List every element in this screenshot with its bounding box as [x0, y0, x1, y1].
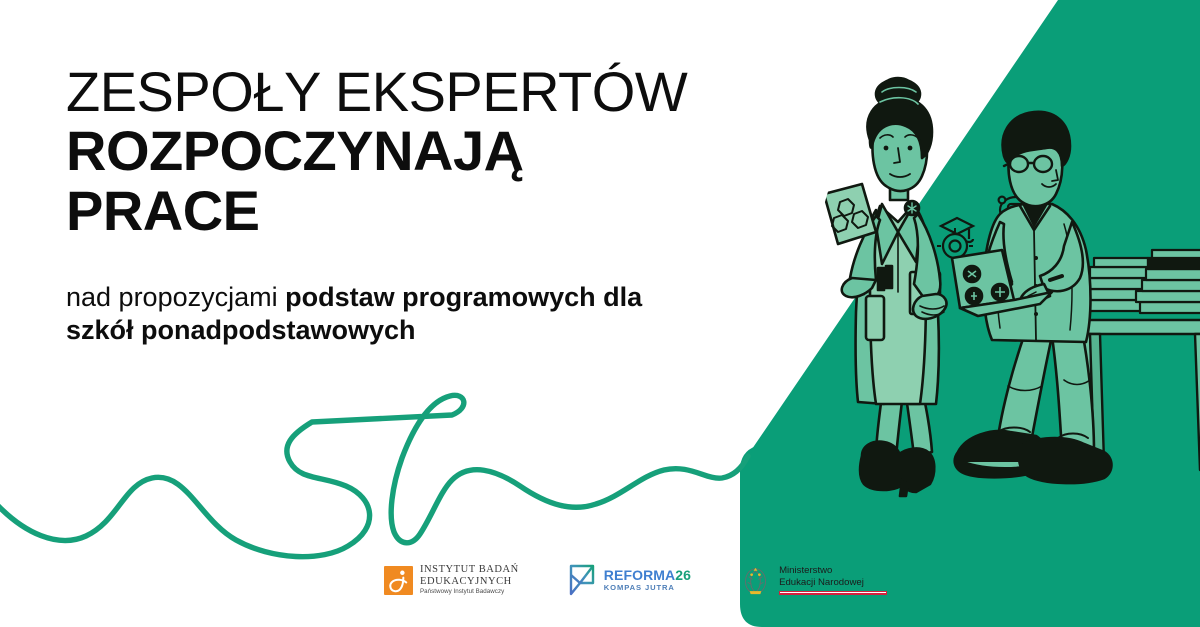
- logo-strip: INSTYTUT BADAŃ EDUKACYJNYCH Państwowy In…: [384, 556, 887, 604]
- reforma-name-suffix: 26: [675, 567, 691, 583]
- polish-eagle-emblem: [739, 564, 772, 597]
- reforma-name-prefix: REFORMA: [604, 567, 675, 583]
- banner-root: AI: [0, 0, 1200, 627]
- laptop-sticker-1: [964, 266, 980, 282]
- men-wordmark: Ministerstwo Edukacji Narodowej: [779, 565, 887, 594]
- laptop-sticker-3: [992, 284, 1008, 300]
- people-illustration: AI: [824, 78, 1200, 496]
- reforma-wordmark: REFORMA26 KOMPAS JUTRA: [604, 568, 691, 593]
- man-with-laptop: [955, 112, 1112, 483]
- logo-ibe: INSTYTUT BADAŃ EDUKACYJNYCH Państwowy In…: [384, 558, 519, 602]
- headline-block: ZESPOŁY EKSPERTÓW ROZPOCZYNAJĄ PRACE: [66, 62, 726, 240]
- logo-reforma26: REFORMA26 KOMPAS JUTRA: [567, 558, 691, 602]
- ibe-line-3: Państwowy Instytut Badawczy: [420, 589, 519, 596]
- small-gear-icon: [911, 247, 931, 267]
- subheading-regular: nad propozycjami: [66, 282, 285, 312]
- woman-scientist: [824, 78, 946, 496]
- ibe-orange-mark: [384, 566, 413, 595]
- ai-label: AI: [1007, 220, 1039, 258]
- laptop: [952, 250, 1052, 316]
- education-gear-icon: [937, 218, 973, 264]
- reforma-name: REFORMA26: [604, 568, 691, 583]
- subheading: nad propozycjami podstaw programowych dl…: [66, 281, 716, 347]
- ai-network-icon: [997, 197, 1035, 239]
- men-line-2: Edukacji Narodowej: [779, 577, 887, 588]
- headline-line-1: ZESPOŁY EKSPERTÓW: [66, 62, 726, 121]
- reforma-compass-icon: [567, 563, 597, 597]
- ibe-line-1: INSTYTUT BADAŃ: [420, 564, 519, 575]
- ibe-wordmark: INSTYTUT BADAŃ EDUKACYJNYCH Państwowy In…: [420, 564, 519, 595]
- headline-line-2: ROZPOCZYNAJĄ PRACE: [66, 121, 726, 240]
- reforma-tagline: KOMPAS JUTRA: [604, 584, 691, 592]
- ibe-line-2: EDUKACYJNYCH: [420, 576, 519, 587]
- floating-tech-icons: [911, 197, 1035, 267]
- green-hexagon-panel: [740, 0, 1200, 627]
- laptop-sticker-2: [966, 288, 982, 304]
- page-title: ZESPOŁY EKSPERTÓW ROZPOCZYNAJĄ PRACE: [66, 62, 726, 240]
- logo-men: Ministerstwo Edukacji Narodowej: [739, 558, 887, 602]
- men-flag-bar: [779, 591, 887, 595]
- decorative-squiggle-line: [0, 395, 748, 556]
- men-line-1: Ministerstwo: [779, 565, 887, 576]
- molecule-clipboard: [824, 184, 876, 244]
- desk: [1055, 320, 1200, 470]
- book-stack-left: [1078, 258, 1158, 311]
- book-stack-right: [1136, 250, 1200, 313]
